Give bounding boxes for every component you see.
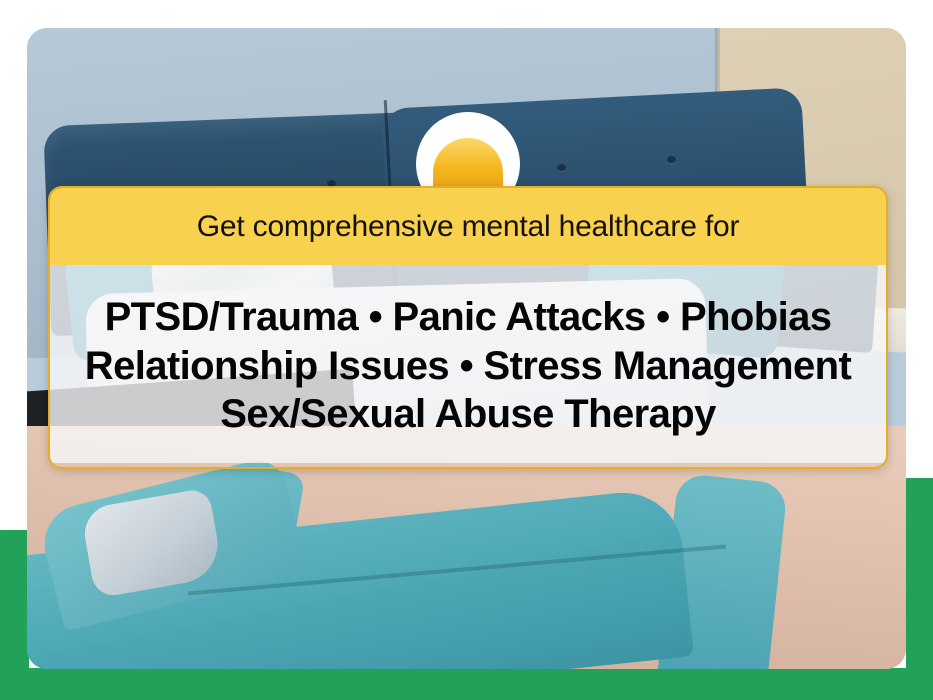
services-card: Get comprehensive mental healthcare for … bbox=[48, 186, 888, 469]
promo-banner: Get comprehensive mental healthcare for … bbox=[0, 0, 933, 700]
sofa-tuft-button bbox=[557, 164, 566, 171]
service-line-1: PTSD/Trauma • Panic Attacks • Phobias bbox=[105, 293, 832, 342]
service-line-2: Relationship Issues • Stress Management bbox=[85, 342, 851, 391]
card-headline: Get comprehensive mental healthcare for bbox=[197, 210, 739, 244]
green-frame-right bbox=[906, 478, 933, 700]
card-header: Get comprehensive mental healthcare for bbox=[50, 188, 886, 265]
green-frame-bottom bbox=[0, 668, 933, 700]
card-body: PTSD/Trauma • Panic Attacks • Phobias Re… bbox=[50, 265, 886, 463]
service-line-3: Sex/Sexual Abuse Therapy bbox=[220, 390, 715, 439]
green-frame-left bbox=[0, 530, 29, 700]
sofa-tuft-button bbox=[667, 156, 676, 163]
